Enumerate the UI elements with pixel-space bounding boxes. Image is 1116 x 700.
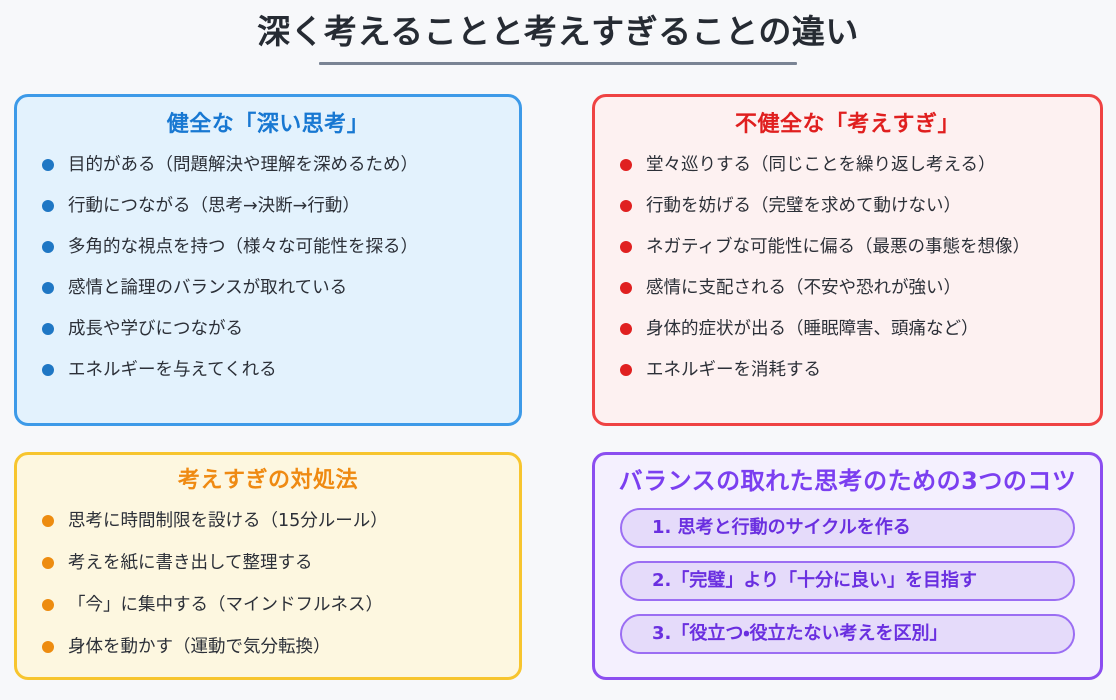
list-item-label: 目的がある（問題解決や理解を深めるため） [68, 154, 507, 176]
list-item: 考えを紙に書き出して整理する [42, 552, 507, 574]
bullet-dot-icon [42, 364, 54, 376]
bullet-dot-icon [42, 557, 54, 569]
bullet-dot-icon [620, 241, 632, 253]
card-unhealthy-overthinking: 不健全な「考えすぎ」 堂々巡りする（同じことを繰り返し考える） 行動を妨げる（完… [592, 94, 1103, 426]
bullet-dot-icon [620, 159, 632, 171]
card-title-coping: 考えすぎの対処法 [17, 455, 519, 495]
list-item-label: 感情と論理のバランスが取れている [68, 277, 507, 299]
bullet-dot-icon [620, 364, 632, 376]
list-item-label: 感情に支配される（不安や恐れが強い） [646, 277, 1088, 299]
list-item-label: 考えを紙に書き出して整理する [68, 552, 507, 574]
list-item-label: エネルギーを消耗する [646, 359, 1088, 381]
list-item: 思考に時間制限を設ける（15分ルール） [42, 510, 507, 532]
card-healthy-deep-thinking: 健全な「深い思考」 目的がある（問題解決や理解を深めるため） 行動につながる（思… [14, 94, 522, 426]
list-item-label: 行動を妨げる（完璧を求めて動けない） [646, 195, 1088, 217]
tip-pill[interactable]: 1. 思考と行動のサイクルを作る [620, 508, 1075, 548]
list-item-label: 成長や学びにつながる [68, 318, 507, 340]
list-item: ネガティブな可能性に偏る（最悪の事態を想像） [620, 236, 1088, 258]
list-item-label: 多角的な視点を持つ（様々な可能性を探る） [68, 236, 507, 258]
card-balanced-thinking-tips: バランスの取れた思考のための3つのコツ 1. 思考と行動のサイクルを作る 2.「… [592, 452, 1103, 680]
list-item: 感情に支配される（不安や恐れが強い） [620, 277, 1088, 299]
list-item: 成長や学びにつながる [42, 318, 507, 340]
list-item-label: 堂々巡りする（同じことを繰り返し考える） [646, 154, 1088, 176]
list-item: 身体的症状が出る（睡眠障害、頭痛など） [620, 318, 1088, 340]
bullet-dot-icon [42, 241, 54, 253]
list-item: エネルギーを消耗する [620, 359, 1088, 381]
card-coping-methods: 考えすぎの対処法 思考に時間制限を設ける（15分ルール） 考えを紙に書き出して整… [14, 452, 522, 680]
bullet-dot-icon [42, 641, 54, 653]
bullet-list-coping: 思考に時間制限を設ける（15分ルール） 考えを紙に書き出して整理する 「今」に集… [17, 510, 519, 658]
list-item: 「今」に集中する（マインドフルネス） [42, 594, 507, 616]
tip-pill[interactable]: 2.「完璧」より「十分に良い」を目指す [620, 561, 1075, 601]
list-item: 堂々巡りする（同じことを繰り返し考える） [620, 154, 1088, 176]
page-header: 深く考えることと考えすぎることの違い [0, 0, 1116, 88]
page-title: 深く考えることと考えすぎることの違い [0, 0, 1116, 54]
list-item-label: ネガティブな可能性に偏る（最悪の事態を想像） [646, 236, 1088, 258]
card-title-tips: バランスの取れた思考のための3つのコツ [595, 455, 1100, 496]
bullet-dot-icon [42, 200, 54, 212]
list-item-label: 「今」に集中する（マインドフルネス） [68, 594, 507, 616]
list-item: 行動を妨げる（完璧を求めて動けない） [620, 195, 1088, 217]
bullet-dot-icon [42, 323, 54, 335]
bullet-dot-icon [620, 323, 632, 335]
list-item: 多角的な視点を持つ（様々な可能性を探る） [42, 236, 507, 258]
list-item: 目的がある（問題解決や理解を深めるため） [42, 154, 507, 176]
bullet-list-overthinking: 堂々巡りする（同じことを繰り返し考える） 行動を妨げる（完璧を求めて動けない） … [595, 154, 1100, 381]
tip-pill[interactable]: 3.「役立つ・役立たない考えを区別」 [620, 614, 1075, 654]
pill-list-tips: 1. 思考と行動のサイクルを作る 2.「完璧」より「十分に良い」を目指す 3.「… [595, 508, 1100, 654]
card-title-overthinking: 不健全な「考えすぎ」 [595, 97, 1100, 139]
list-item: エネルギーを与えてくれる [42, 359, 507, 381]
bullet-dot-icon [42, 599, 54, 611]
list-item-label: 行動につながる（思考→決断→行動） [68, 195, 507, 217]
list-item: 感情と論理のバランスが取れている [42, 277, 507, 299]
list-item-label: エネルギーを与えてくれる [68, 359, 507, 381]
list-item: 行動につながる（思考→決断→行動） [42, 195, 507, 217]
bullet-dot-icon [42, 159, 54, 171]
bullet-dot-icon [620, 200, 632, 212]
bullet-dot-icon [42, 282, 54, 294]
list-item-label: 身体を動かす（運動で気分転換） [68, 636, 507, 658]
title-divider [319, 62, 797, 65]
bullet-dot-icon [620, 282, 632, 294]
bullet-list-healthy: 目的がある（問題解決や理解を深めるため） 行動につながる（思考→決断→行動） 多… [17, 154, 519, 381]
bullet-dot-icon [42, 515, 54, 527]
list-item: 身体を動かす（運動で気分転換） [42, 636, 507, 658]
card-title-healthy: 健全な「深い思考」 [17, 97, 519, 139]
list-item-label: 思考に時間制限を設ける（15分ルール） [68, 510, 507, 532]
list-item-label: 身体的症状が出る（睡眠障害、頭痛など） [646, 318, 1088, 340]
